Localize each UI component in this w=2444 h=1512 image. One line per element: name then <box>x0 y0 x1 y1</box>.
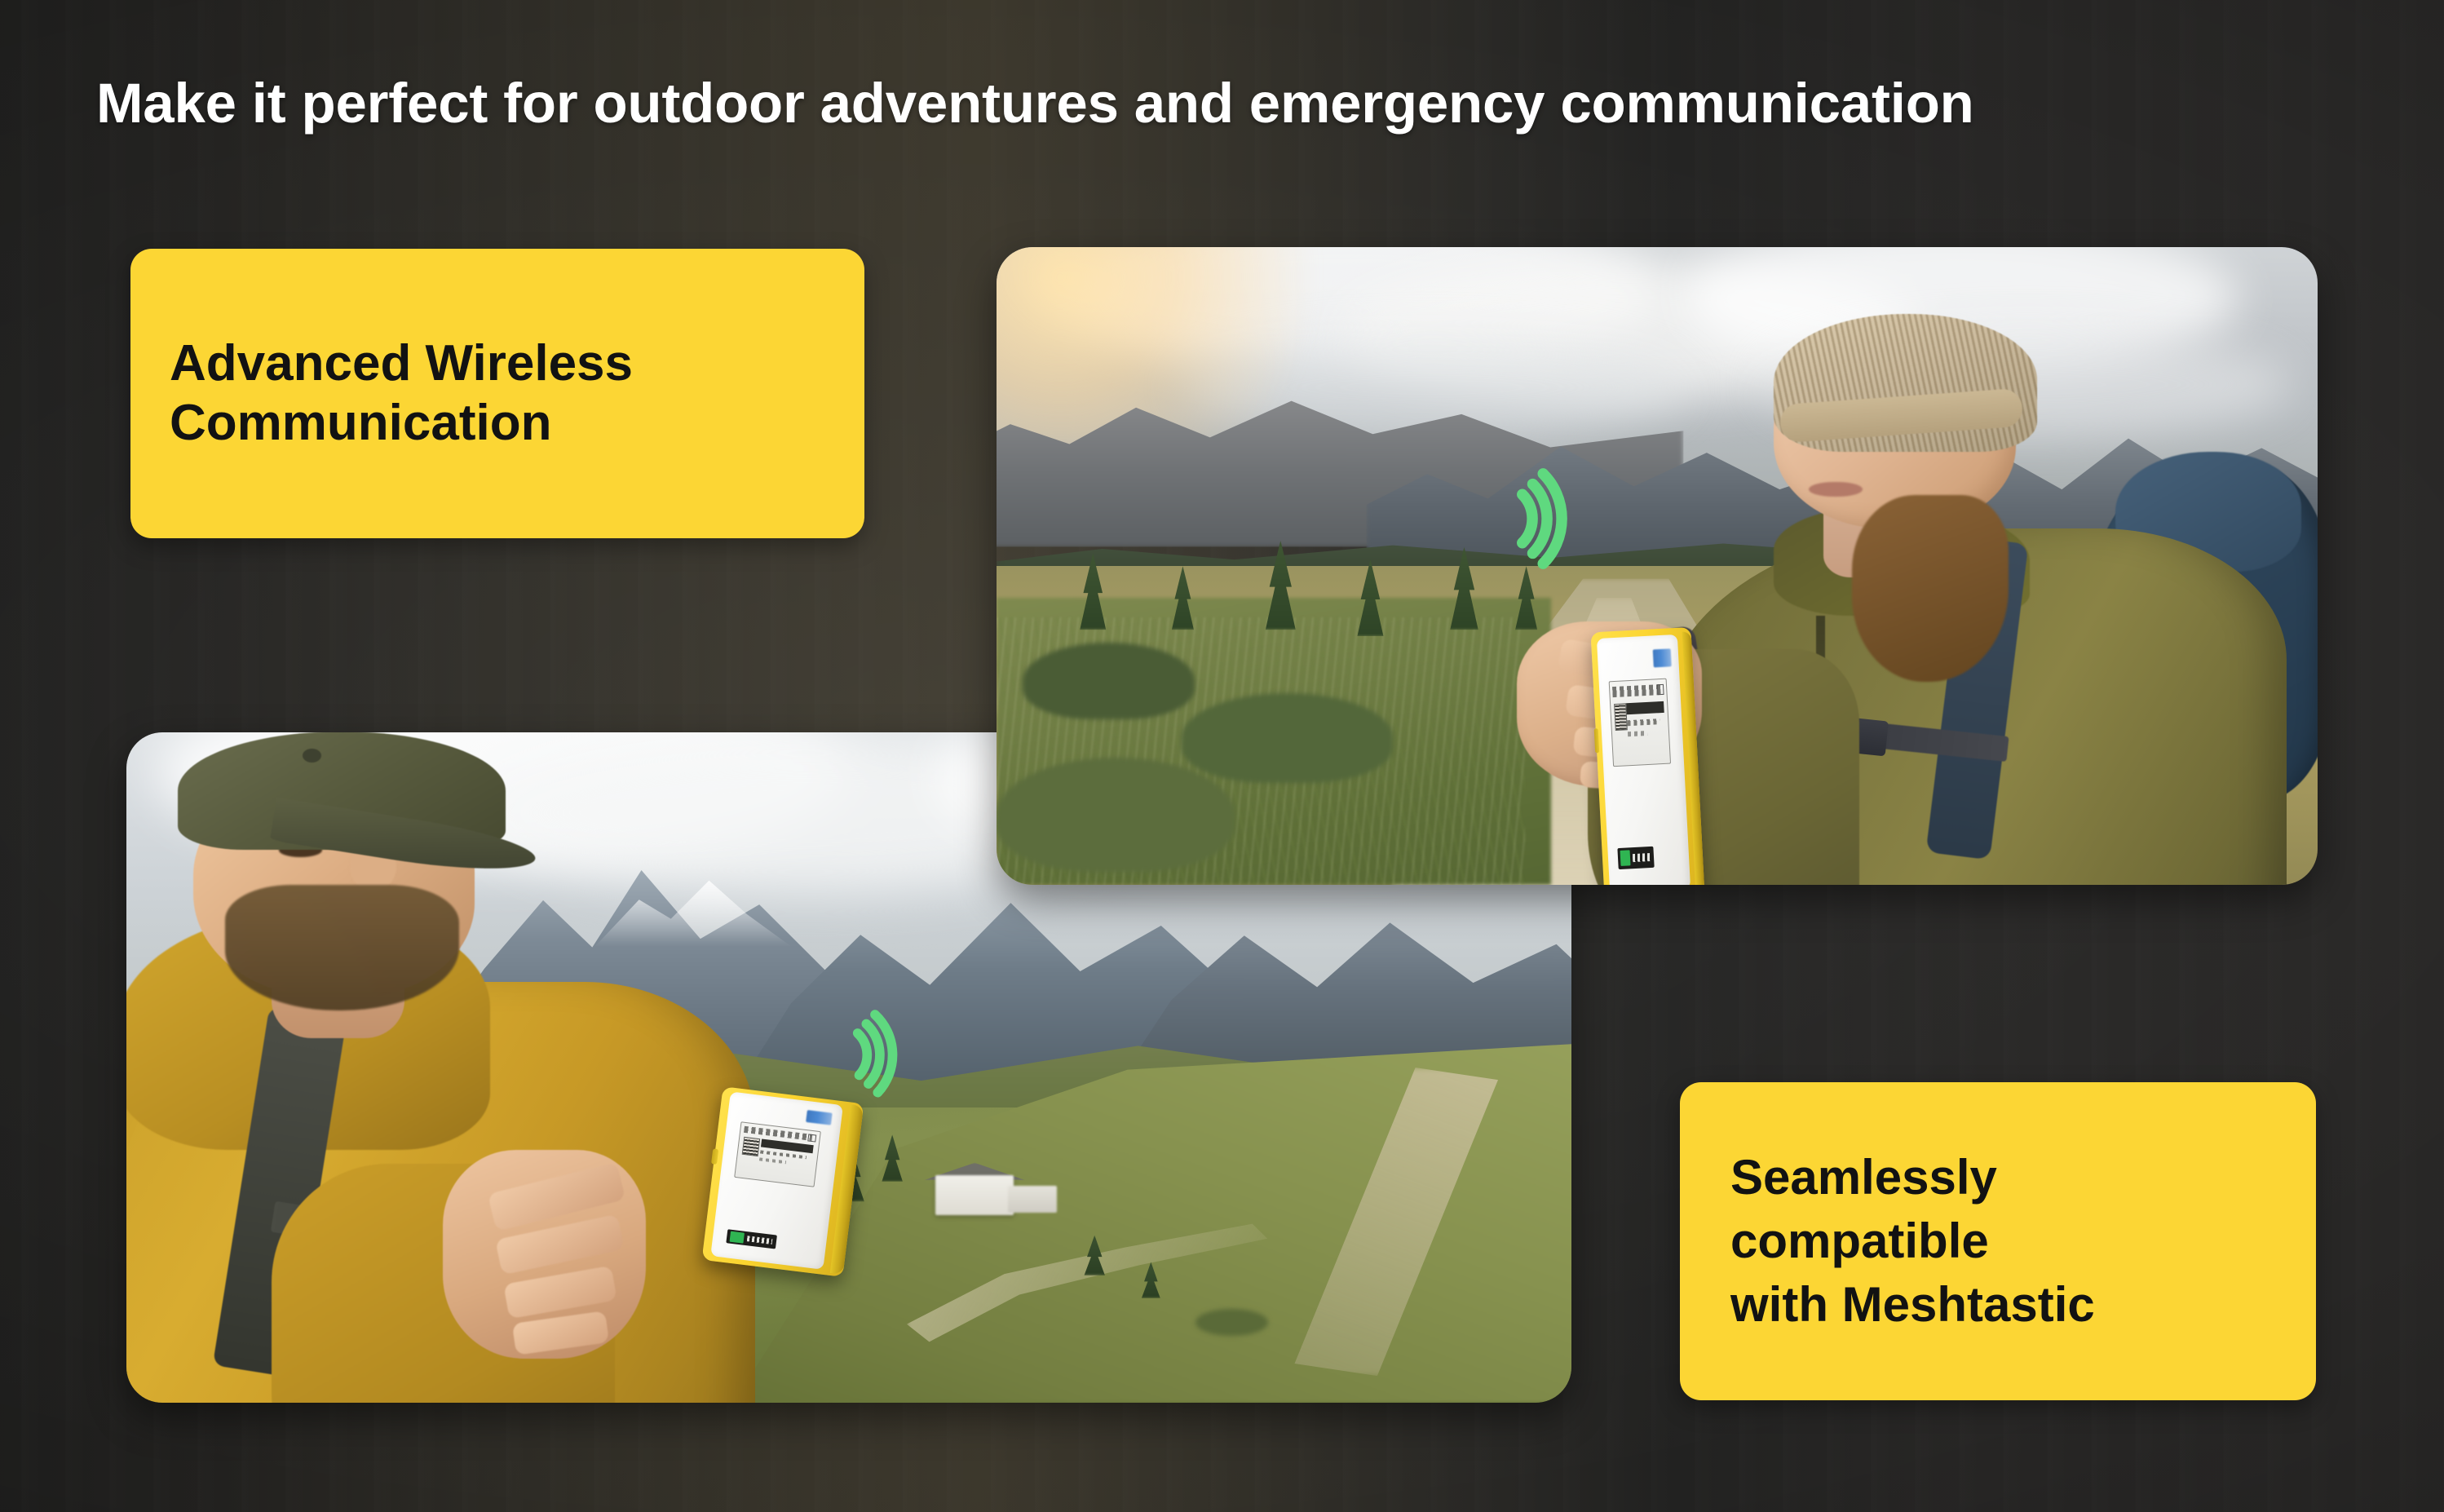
device-display <box>734 1121 821 1187</box>
brand-logo <box>806 1110 832 1125</box>
label-text <box>746 1236 772 1245</box>
device-front-face <box>1597 634 1690 885</box>
farmhouse <box>935 1175 1014 1215</box>
shrub <box>997 758 1235 873</box>
battery-icon <box>1657 684 1664 695</box>
battery-icon <box>807 1134 817 1142</box>
label-green-mark <box>730 1231 745 1243</box>
display-text-line <box>759 1157 786 1164</box>
label-text <box>1633 853 1651 863</box>
shrub <box>1182 693 1393 782</box>
shrub <box>1023 643 1195 719</box>
lips <box>1809 482 1863 497</box>
hair-strand <box>1852 495 2009 682</box>
device-label-badge <box>1618 847 1655 870</box>
hiker-woman <box>1631 374 2318 885</box>
badge-line-3: with Meshtastic <box>1730 1273 2316 1337</box>
farm-outbuilding <box>1008 1186 1057 1213</box>
display-title-row <box>1612 685 1661 697</box>
badge-line-2: Communication <box>170 394 864 453</box>
hiker-man <box>126 759 849 1403</box>
display-qr-icon <box>1614 703 1628 731</box>
meadow-trail-scene <box>997 247 2318 885</box>
display-highlight-row <box>1627 701 1664 715</box>
wifi-signal-icon <box>1478 458 1601 580</box>
badge-line-1: Seamlessly <box>1730 1146 2316 1209</box>
label-green-mark <box>1620 851 1631 867</box>
display-text-line <box>1628 718 1660 726</box>
display-text-line <box>1629 731 1648 736</box>
handheld-mesh-radio[interactable] <box>701 1086 863 1276</box>
badge-meshtastic-compatible: Seamlessly compatible with Meshtastic <box>1680 1082 2316 1400</box>
beard <box>225 885 459 1010</box>
handheld-mesh-radio[interactable] <box>1591 627 1705 885</box>
shrub <box>1195 1309 1268 1336</box>
badge-line-1: Advanced Wireless <box>170 334 864 394</box>
badge-line-2: compatible <box>1730 1209 2316 1273</box>
device-display <box>1609 679 1671 767</box>
brand-logo <box>1653 649 1672 668</box>
page-headline: Make it perfect for outdoor adventures a… <box>96 75 1974 131</box>
display-qr-icon <box>741 1137 760 1156</box>
device-front-face <box>710 1092 843 1270</box>
photo-card-woman-hiker <box>997 247 2318 885</box>
badge-advanced-wireless-communication: Advanced Wireless Communication <box>130 249 864 538</box>
wifi-signal-icon <box>820 1001 926 1107</box>
device-label-badge <box>726 1229 777 1249</box>
